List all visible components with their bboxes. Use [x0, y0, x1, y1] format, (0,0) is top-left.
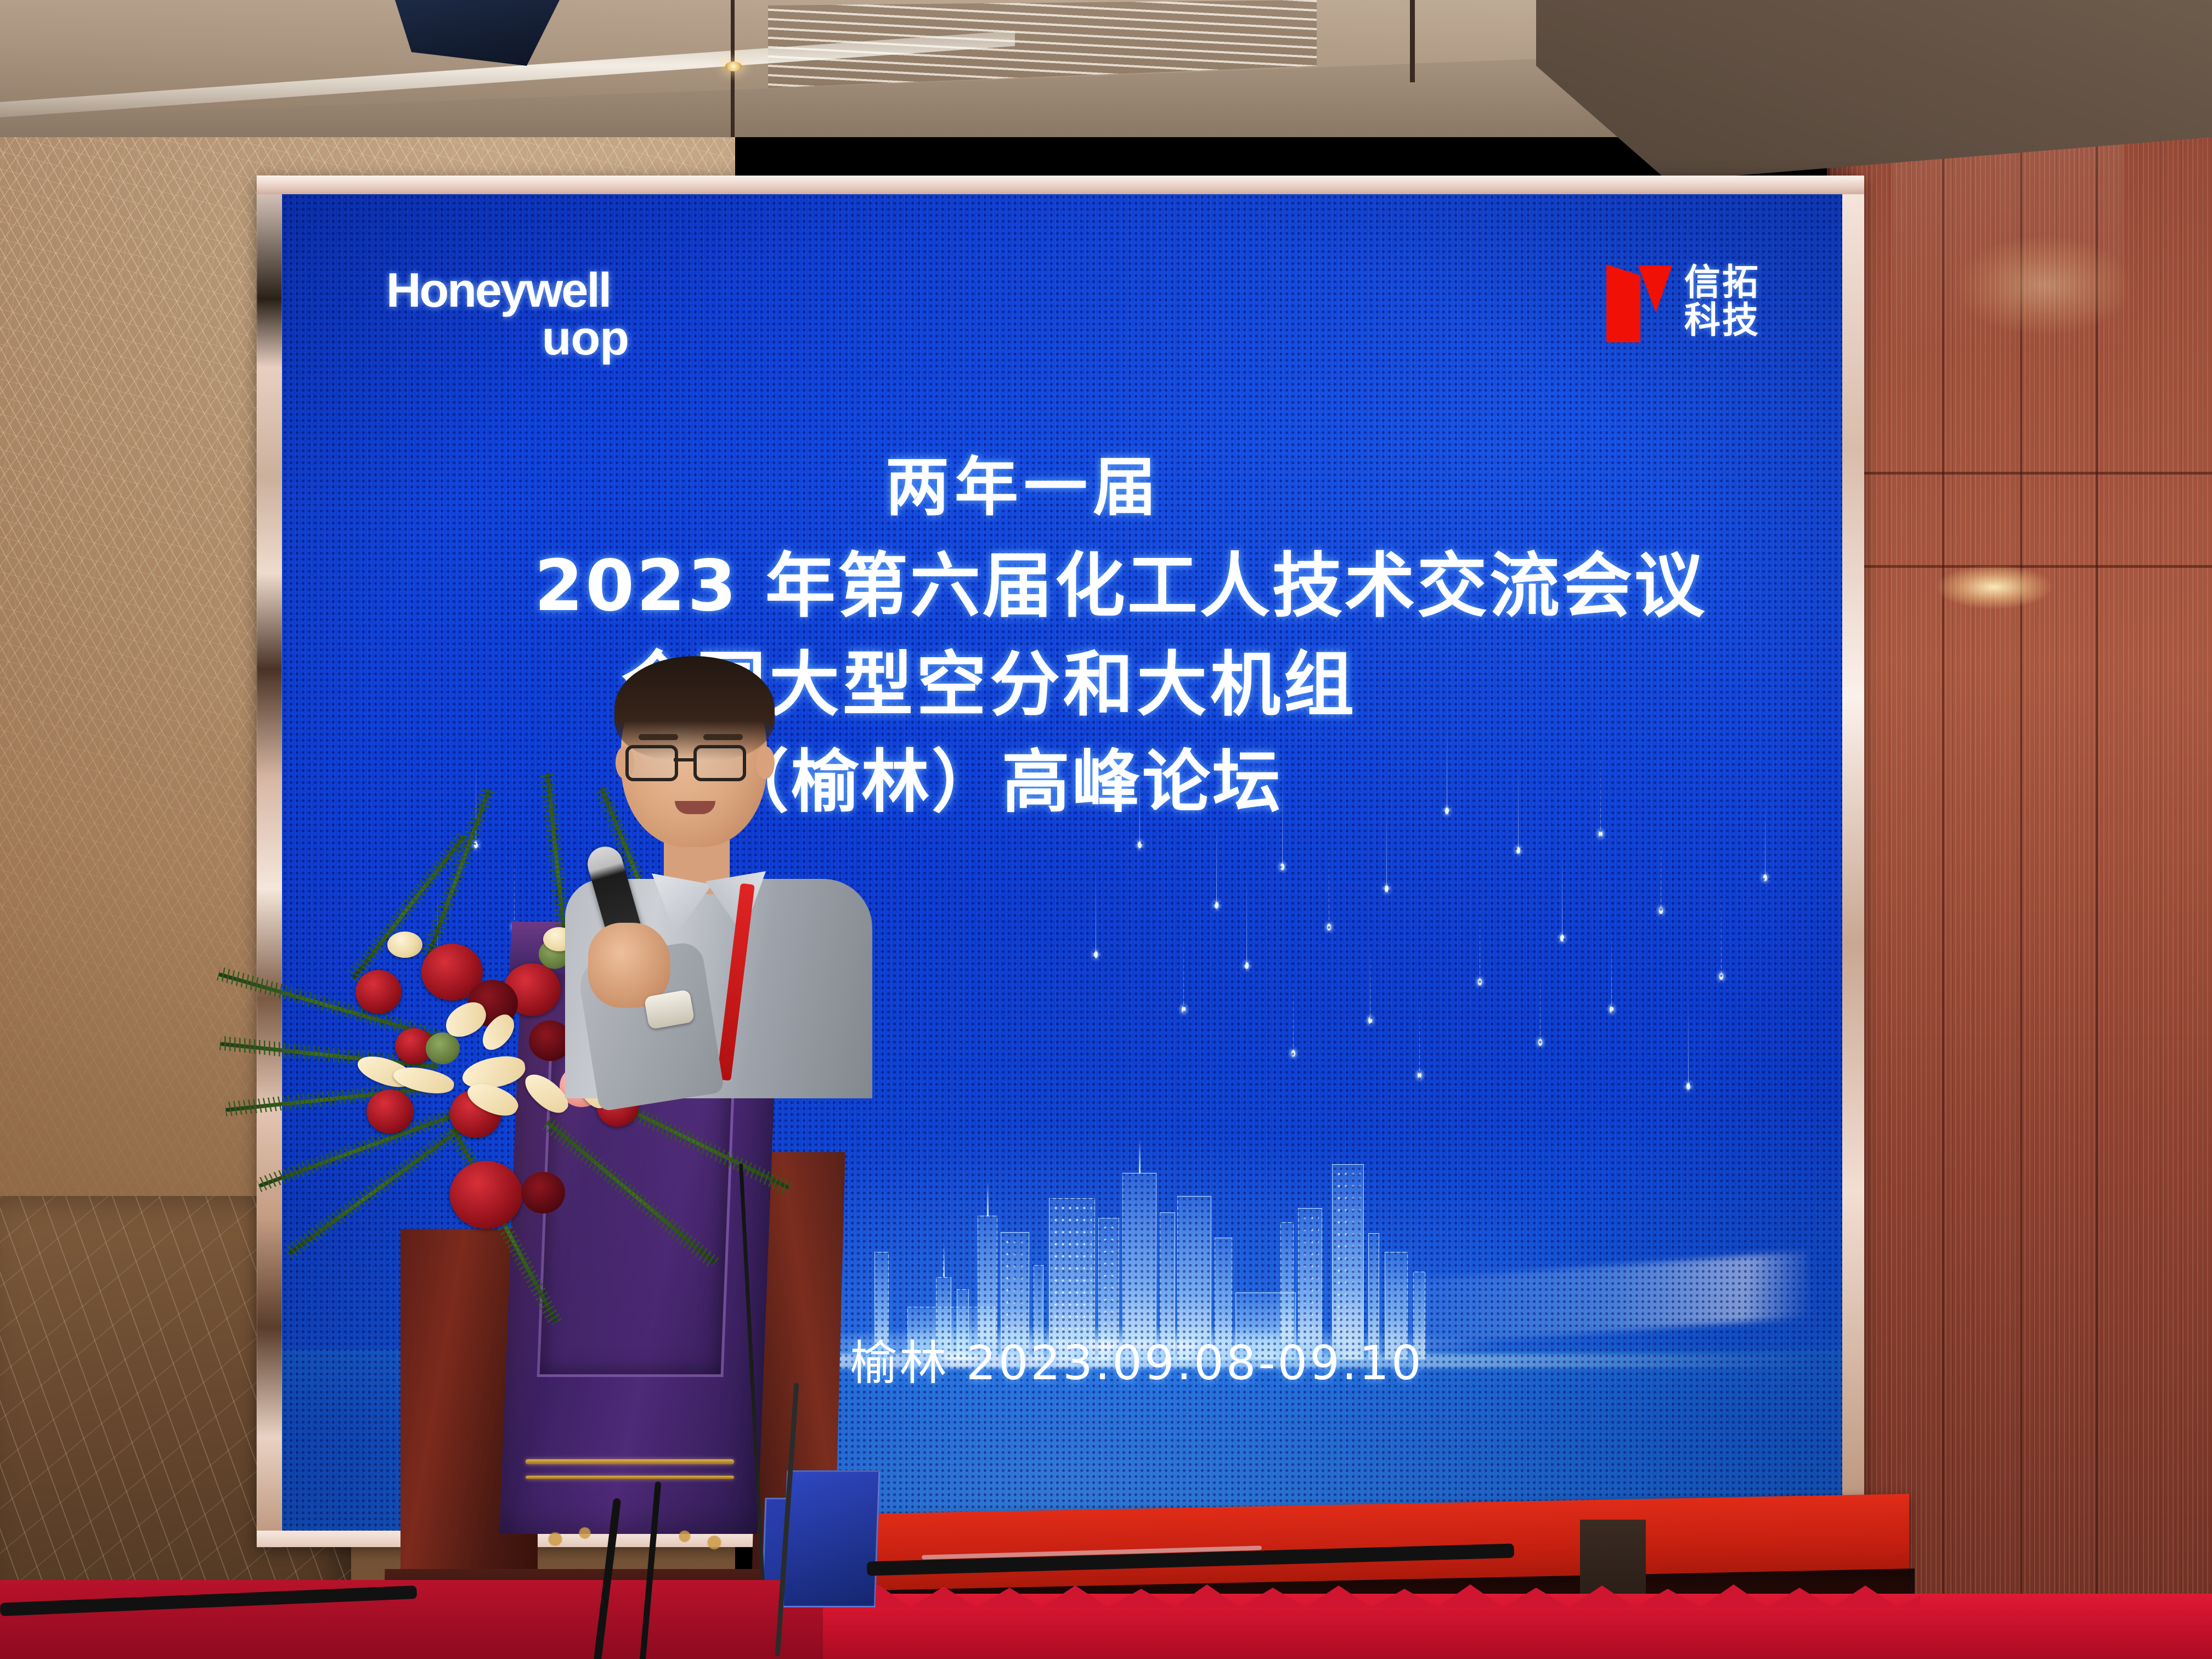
screen-frame-top [257, 176, 1864, 194]
speaker-glasses-right [693, 745, 746, 781]
xintuo-line-2: 科技 [1684, 301, 1760, 339]
hanging-cable-2 [1410, 0, 1415, 82]
conference-stage-photo: Honeywell uop 信拓 科技 两年一届 2023 年第六届化工人技术交… [0, 0, 2212, 1659]
podium-carving [665, 1524, 731, 1555]
stage-blue-riser [782, 1470, 881, 1607]
xintuo-line-1: 信拓 [1684, 263, 1760, 301]
xintuo-technology-logo: 信拓 科技 [1602, 260, 1760, 342]
honeywell-wordmark: Honeywell [386, 267, 672, 314]
ceiling-vent-grille [768, 0, 1317, 126]
xintuo-mark-icon [1602, 260, 1672, 342]
screen-frame-right-mirror [1842, 176, 1864, 1547]
podium-carving [539, 1521, 605, 1551]
title-line-1: 两年一届 [885, 436, 1162, 528]
speaker-glasses-left [625, 745, 678, 781]
xintuo-wordmark: 信拓 科技 [1684, 263, 1760, 340]
screen-frame-left-mirror [257, 176, 282, 1547]
ceiling-downlight [725, 61, 742, 71]
title-line-2: 2023 年第六届化工人技术交流会议 [534, 529, 1707, 630]
speaker-glasses-bridge [674, 758, 695, 761]
speaker-person [582, 664, 845, 1092]
uop-wordmark: uop [386, 314, 672, 362]
honeywell-uop-logo: Honeywell uop [386, 267, 672, 362]
right-wall-wood-panel [1827, 0, 2212, 1659]
